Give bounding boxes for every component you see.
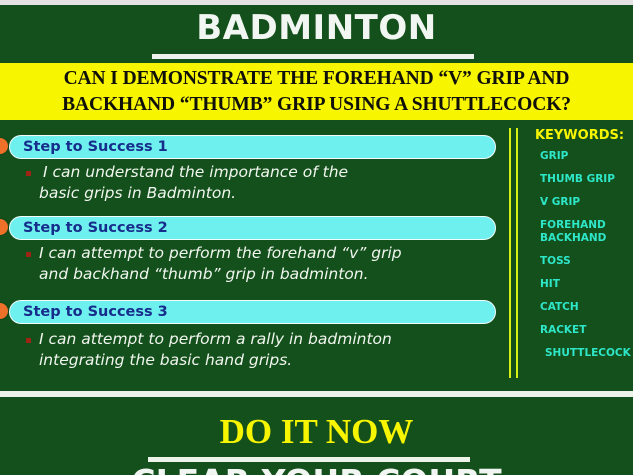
step-marker-3 bbox=[0, 303, 8, 319]
step-text-2-line-1: I can attempt to perform the forehand “v… bbox=[39, 244, 402, 262]
question-line-1: CAN I DEMONSTRATE THE FOREHAND “V” GRIP … bbox=[64, 66, 570, 92]
keyword-item-v-grip: V GRIP bbox=[528, 196, 633, 209]
step-heading-3[interactable]: Step to Success 3 bbox=[9, 300, 496, 324]
step-heading-1[interactable]: Step to Success 1 bbox=[9, 135, 496, 159]
step-text-1-line-1: I can understand the importance of the bbox=[43, 163, 348, 181]
bullet-row: I can attempt to perform the forehand “v… bbox=[26, 243, 496, 285]
step-text-2-line-2: and backhand “thumb” grip in badminton. bbox=[39, 265, 369, 283]
keywords-title: KEYWORDS: bbox=[528, 128, 633, 144]
keyword-item-catch: CATCH bbox=[528, 301, 633, 314]
keyword-item-racket: RACKET bbox=[528, 324, 633, 337]
keyword-item-backhand: BACKHAND bbox=[528, 232, 633, 245]
step-heading-label-3: Step to Success 3 bbox=[10, 304, 168, 320]
footer-title: DO IT NOW bbox=[0, 412, 633, 452]
step-heading-2[interactable]: Step to Success 2 bbox=[9, 216, 496, 240]
slide-root: BADMINTON CAN I DEMONSTRATE THE FOREHAND… bbox=[0, 0, 633, 475]
step-body-2: I can attempt to perform the forehand “v… bbox=[26, 243, 496, 285]
step-text-2: I can attempt to perform the forehand “v… bbox=[39, 243, 402, 285]
step-heading-label-2: Step to Success 2 bbox=[10, 220, 168, 236]
page-title: BADMINTON bbox=[0, 7, 633, 49]
step-marker-2 bbox=[0, 219, 8, 235]
keyword-item-hit: HIT bbox=[528, 278, 633, 291]
keywords-list: GRIP THUMB GRIP V GRIP FOREHAND BACKHAND… bbox=[528, 150, 633, 360]
step-body-1: I can understand the importance of the b… bbox=[26, 162, 496, 204]
keyword-item-grip: GRIP bbox=[528, 150, 633, 163]
bullet-square-icon bbox=[26, 338, 31, 343]
step-body-3: I can attempt to perform a rally in badm… bbox=[26, 329, 496, 371]
bullet-square-icon bbox=[26, 252, 31, 257]
footer-subtitle: CLEAR YOUR COURT bbox=[0, 462, 633, 475]
step-text-1: I can understand the importance of the b… bbox=[39, 162, 348, 204]
learning-question-banner: CAN I DEMONSTRATE THE FOREHAND “V” GRIP … bbox=[0, 63, 633, 120]
footer-section: DO IT NOW CLEAR YOUR COURT bbox=[0, 400, 633, 475]
step-text-3-line-1: I can attempt to perform a rally in badm… bbox=[39, 330, 392, 348]
bullet-square-icon bbox=[26, 171, 31, 176]
step-text-1-line-2: basic grips in Badminton. bbox=[39, 184, 236, 202]
keyword-item-shuttlecock: SHUTTLECOCK bbox=[528, 347, 633, 360]
bullet-row: I can attempt to perform a rally in badm… bbox=[26, 329, 496, 371]
section-divider-rule bbox=[0, 391, 633, 397]
keyword-item-toss: TOSS bbox=[528, 255, 633, 268]
title-underline-rule bbox=[152, 54, 474, 59]
keyword-item-forehand: FOREHAND bbox=[528, 219, 633, 232]
keyword-item-thumb-grip: THUMB GRIP bbox=[528, 173, 633, 186]
keywords-panel: KEYWORDS: GRIP THUMB GRIP V GRIP FOREHAN… bbox=[528, 128, 633, 360]
vertical-divider-line-right bbox=[516, 128, 518, 378]
title-band: BADMINTON bbox=[0, 5, 633, 63]
question-line-2: BACKHAND “THUMB” GRIP USING A SHUTTLECOC… bbox=[62, 92, 571, 118]
step-heading-label-1: Step to Success 1 bbox=[10, 139, 168, 155]
step-marker-1 bbox=[0, 138, 8, 154]
vertical-divider-line-left bbox=[509, 128, 511, 378]
bullet-row: I can understand the importance of the b… bbox=[26, 162, 496, 204]
step-text-3: I can attempt to perform a rally in badm… bbox=[39, 329, 392, 371]
step-text-3-line-2: integrating the basic hand grips. bbox=[39, 351, 292, 369]
